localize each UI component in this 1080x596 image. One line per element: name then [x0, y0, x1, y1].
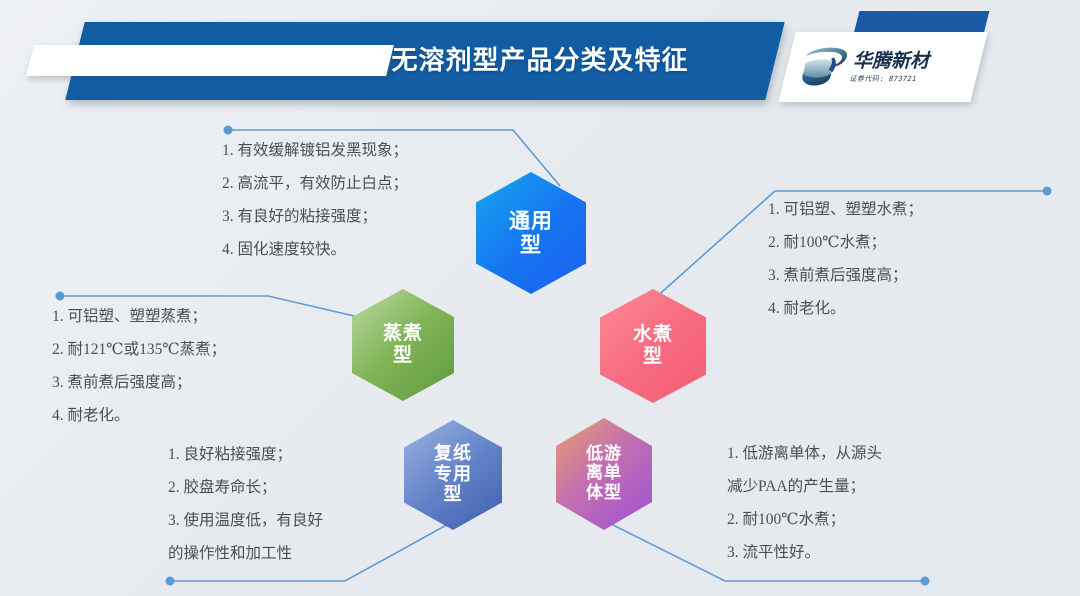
- slide-canvas: 无溶剂型产品分类及特征: [0, 0, 1080, 596]
- feature-item: 1. 低游离单体，从源头: [727, 437, 1027, 470]
- feature-item: 1. 可铝塑、塑塑蒸煮；: [52, 300, 342, 333]
- node-retort-label-2: 型: [383, 345, 423, 367]
- feature-item: 2. 高流平，有效防止白点；: [222, 167, 522, 200]
- feature-item: 4. 耐老化。: [768, 292, 1048, 325]
- node-monomer-label-1: 低游: [586, 445, 622, 465]
- features-paper: 1. 良好粘接强度； 2. 胶盘寿命长； 3. 使用温度低，有良好 的操作性和加…: [168, 438, 458, 570]
- feature-item: 3. 煮前煮后强度高；: [768, 259, 1048, 292]
- node-retort-label-1: 蒸煮: [383, 323, 423, 345]
- node-monomer-label-3: 体型: [586, 484, 622, 504]
- feature-item: 3. 煮前煮后强度高；: [52, 366, 342, 399]
- node-boil-label-1: 水煮: [633, 324, 673, 346]
- connector-dot-monomer: [921, 577, 930, 586]
- feature-item: 减少PAA的产生量；: [727, 470, 1027, 503]
- node-boil-label-2: 型: [633, 346, 673, 368]
- feature-item: 1. 良好粘接强度；: [168, 438, 458, 471]
- feature-item: 2. 耐100℃水煮；: [727, 503, 1027, 536]
- node-monomer-label-2: 离单: [586, 464, 622, 484]
- feature-item: 3. 使用温度低，有良好: [168, 504, 458, 537]
- feature-item: 4. 固化速度较快。: [222, 233, 522, 266]
- connector-dot-paper: [166, 577, 175, 586]
- feature-item: 2. 耐121℃或135℃蒸煮；: [52, 333, 342, 366]
- feature-item: 3. 有良好的粘接强度；: [222, 200, 522, 233]
- feature-item: 1. 有效缓解镀铝发黑现象；: [222, 134, 522, 167]
- features-boil: 1. 可铝塑、塑塑水煮； 2. 耐100℃水煮； 3. 煮前煮后强度高； 4. …: [768, 193, 1048, 325]
- feature-item: 的操作性和加工性: [168, 537, 458, 570]
- feature-item: 3. 流平性好。: [727, 536, 1027, 569]
- feature-item: 2. 胶盘寿命长；: [168, 471, 458, 504]
- features-monomer: 1. 低游离单体，从源头 减少PAA的产生量； 2. 耐100℃水煮； 3. 流…: [727, 437, 1027, 569]
- feature-item: 4. 耐老化。: [52, 399, 342, 432]
- features-retort: 1. 可铝塑、塑塑蒸煮； 2. 耐121℃或135℃蒸煮； 3. 煮前煮后强度高…: [52, 300, 342, 432]
- features-general: 1. 有效缓解镀铝发黑现象； 2. 高流平，有效防止白点； 3. 有良好的粘接强…: [222, 134, 522, 266]
- feature-item: 2. 耐100℃水煮；: [768, 226, 1048, 259]
- feature-item: 1. 可铝塑、塑塑水煮；: [768, 193, 1048, 226]
